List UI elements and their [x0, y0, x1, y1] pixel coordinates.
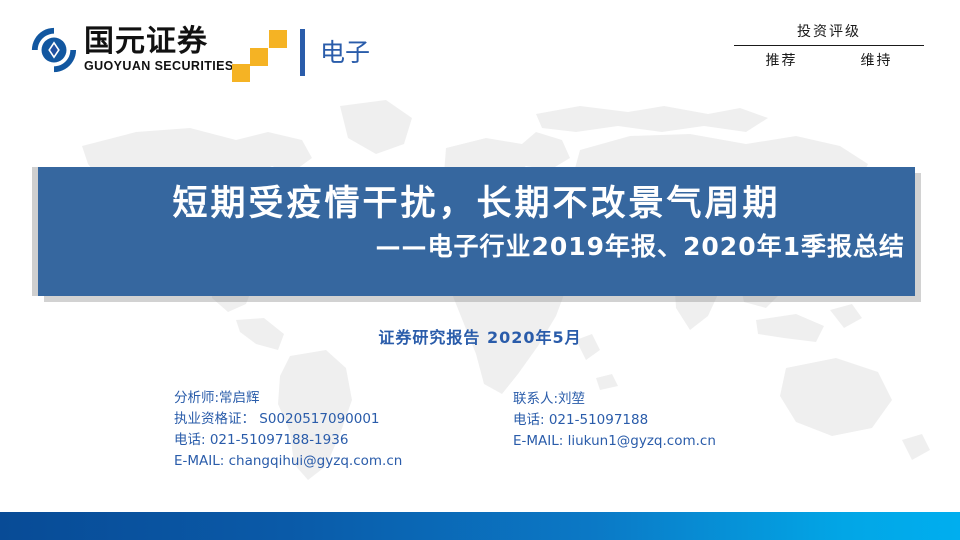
contact-info-block: 联系人:刘堃 电话: 021-51097188 E-MAIL: liukun1@… [513, 389, 716, 452]
page-title: 短期受疫情干扰，长期不改景气周期 [46, 181, 907, 227]
analyst-email: E-MAIL: changqihui@gyzq.com.cn [174, 451, 402, 472]
bottom-gradient-bar [0, 512, 960, 540]
report-cover-page: 国元证券 GUOYUAN SECURITIES 电子 投资评级 推荐 维持 短期… [0, 0, 960, 540]
logo-wordmark: 国元证券 GUOYUAN SECURITIES [84, 26, 234, 73]
contact-phone: 电话: 021-51097188 [513, 410, 716, 431]
vertical-divider-icon [300, 29, 305, 76]
page-header: 国元证券 GUOYUAN SECURITIES 电子 投资评级 推荐 维持 [0, 0, 960, 100]
rating-value-recommend: 推荐 [766, 51, 798, 71]
contact-email: E-MAIL: liukun1@gyzq.com.cn [513, 431, 716, 452]
sector-label: 电子 [320, 38, 370, 68]
rating-value-maintain: 维持 [861, 51, 893, 71]
analyst-info-block: 分析师:常启辉 执业资格证： S0020517090001 电话: 021-51… [174, 388, 402, 472]
title-banner: 短期受疫情干扰，长期不改景气周期 ——电子行业2019年报、2020年1季报总结 [38, 167, 915, 296]
guoyuan-circle-logo-icon [30, 26, 78, 74]
investment-rating-box: 投资评级 推荐 维持 [734, 22, 924, 71]
company-name-en: GUOYUAN SECURITIES [84, 59, 234, 73]
analyst-license: 执业资格证： S0020517090001 [174, 409, 402, 430]
analyst-phone: 电话: 021-51097188-1936 [174, 430, 402, 451]
yellow-square-1 [232, 64, 250, 82]
yellow-square-3 [269, 30, 287, 48]
report-type-and-date: 证券研究报告 2020年5月 [0, 324, 960, 348]
company-logo: 国元证券 GUOYUAN SECURITIES [30, 26, 234, 74]
rating-title: 投资评级 [734, 22, 924, 42]
rating-divider [734, 45, 924, 46]
analyst-name: 分析师:常启辉 [174, 388, 402, 409]
rating-values: 推荐 维持 [734, 51, 924, 71]
three-yellow-squares-icon [232, 28, 294, 84]
company-name-cn: 国元证券 [84, 26, 234, 58]
page-subtitle: ——电子行业2019年报、2020年1季报总结 [46, 227, 907, 267]
yellow-square-2 [250, 48, 268, 66]
contact-name: 联系人:刘堃 [513, 389, 716, 410]
